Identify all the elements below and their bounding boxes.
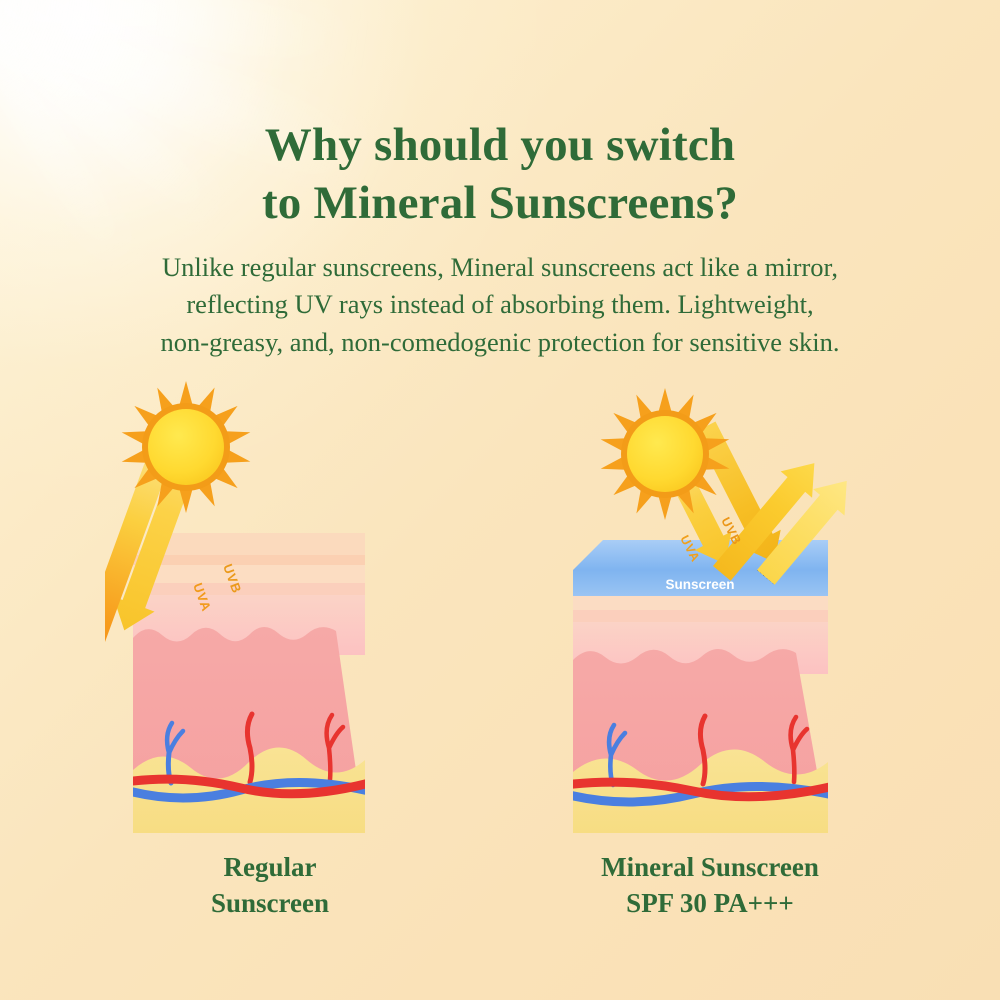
infographic-canvas: Why should you switch to Mineral Sunscre…	[0, 0, 1000, 1000]
caption-line-1: Regular	[105, 850, 435, 886]
caption-line-2: Sunscreen	[105, 886, 435, 922]
diagram-regular-sunscreen: UVA UVB	[105, 370, 435, 840]
block-top-edge	[133, 555, 365, 565]
diagram-mineral-sunscreen: Sunscreen	[545, 370, 875, 840]
page-description: Unlike regular sunscreens, Mineral sunsc…	[62, 249, 938, 362]
layer-stratum	[133, 583, 365, 597]
layer-stratum-corneum	[573, 596, 828, 612]
light-streak-icon	[0, 0, 356, 66]
caption-line-1: Mineral Sunscreen	[545, 850, 875, 886]
page-title-line-2: to Mineral Sunscreens?	[0, 175, 1000, 232]
sun-core-icon	[148, 409, 224, 485]
page-description-line-1: Unlike regular sunscreens, Mineral sunsc…	[62, 249, 938, 287]
sun-core-icon	[627, 416, 703, 492]
layer-stratum-corneum	[133, 565, 365, 585]
page-description-line-2: reflecting UV rays instead of absorbing …	[62, 286, 938, 324]
panel-mineral-sunscreen: Sunscreen	[545, 370, 875, 930]
page-description-line-3: non-greasy, and, non-comedogenic protect…	[62, 324, 938, 362]
panel-caption-regular: Regular Sunscreen	[105, 850, 435, 921]
layer-stratum	[573, 610, 828, 624]
panel-regular-sunscreen: UVA UVB Regular Sunscreen	[105, 370, 435, 930]
sunscreen-layer-label: Sunscreen	[665, 577, 734, 592]
skin-block-mineral: Sunscreen	[565, 540, 838, 833]
skin-block-regular	[125, 533, 373, 833]
caption-line-2: SPF 30 PA+++	[545, 886, 875, 922]
panel-caption-mineral: Mineral Sunscreen SPF 30 PA+++	[545, 850, 875, 921]
page-title: Why should you switch to Mineral Sunscre…	[0, 117, 1000, 232]
page-title-line-1: Why should you switch	[265, 119, 735, 171]
